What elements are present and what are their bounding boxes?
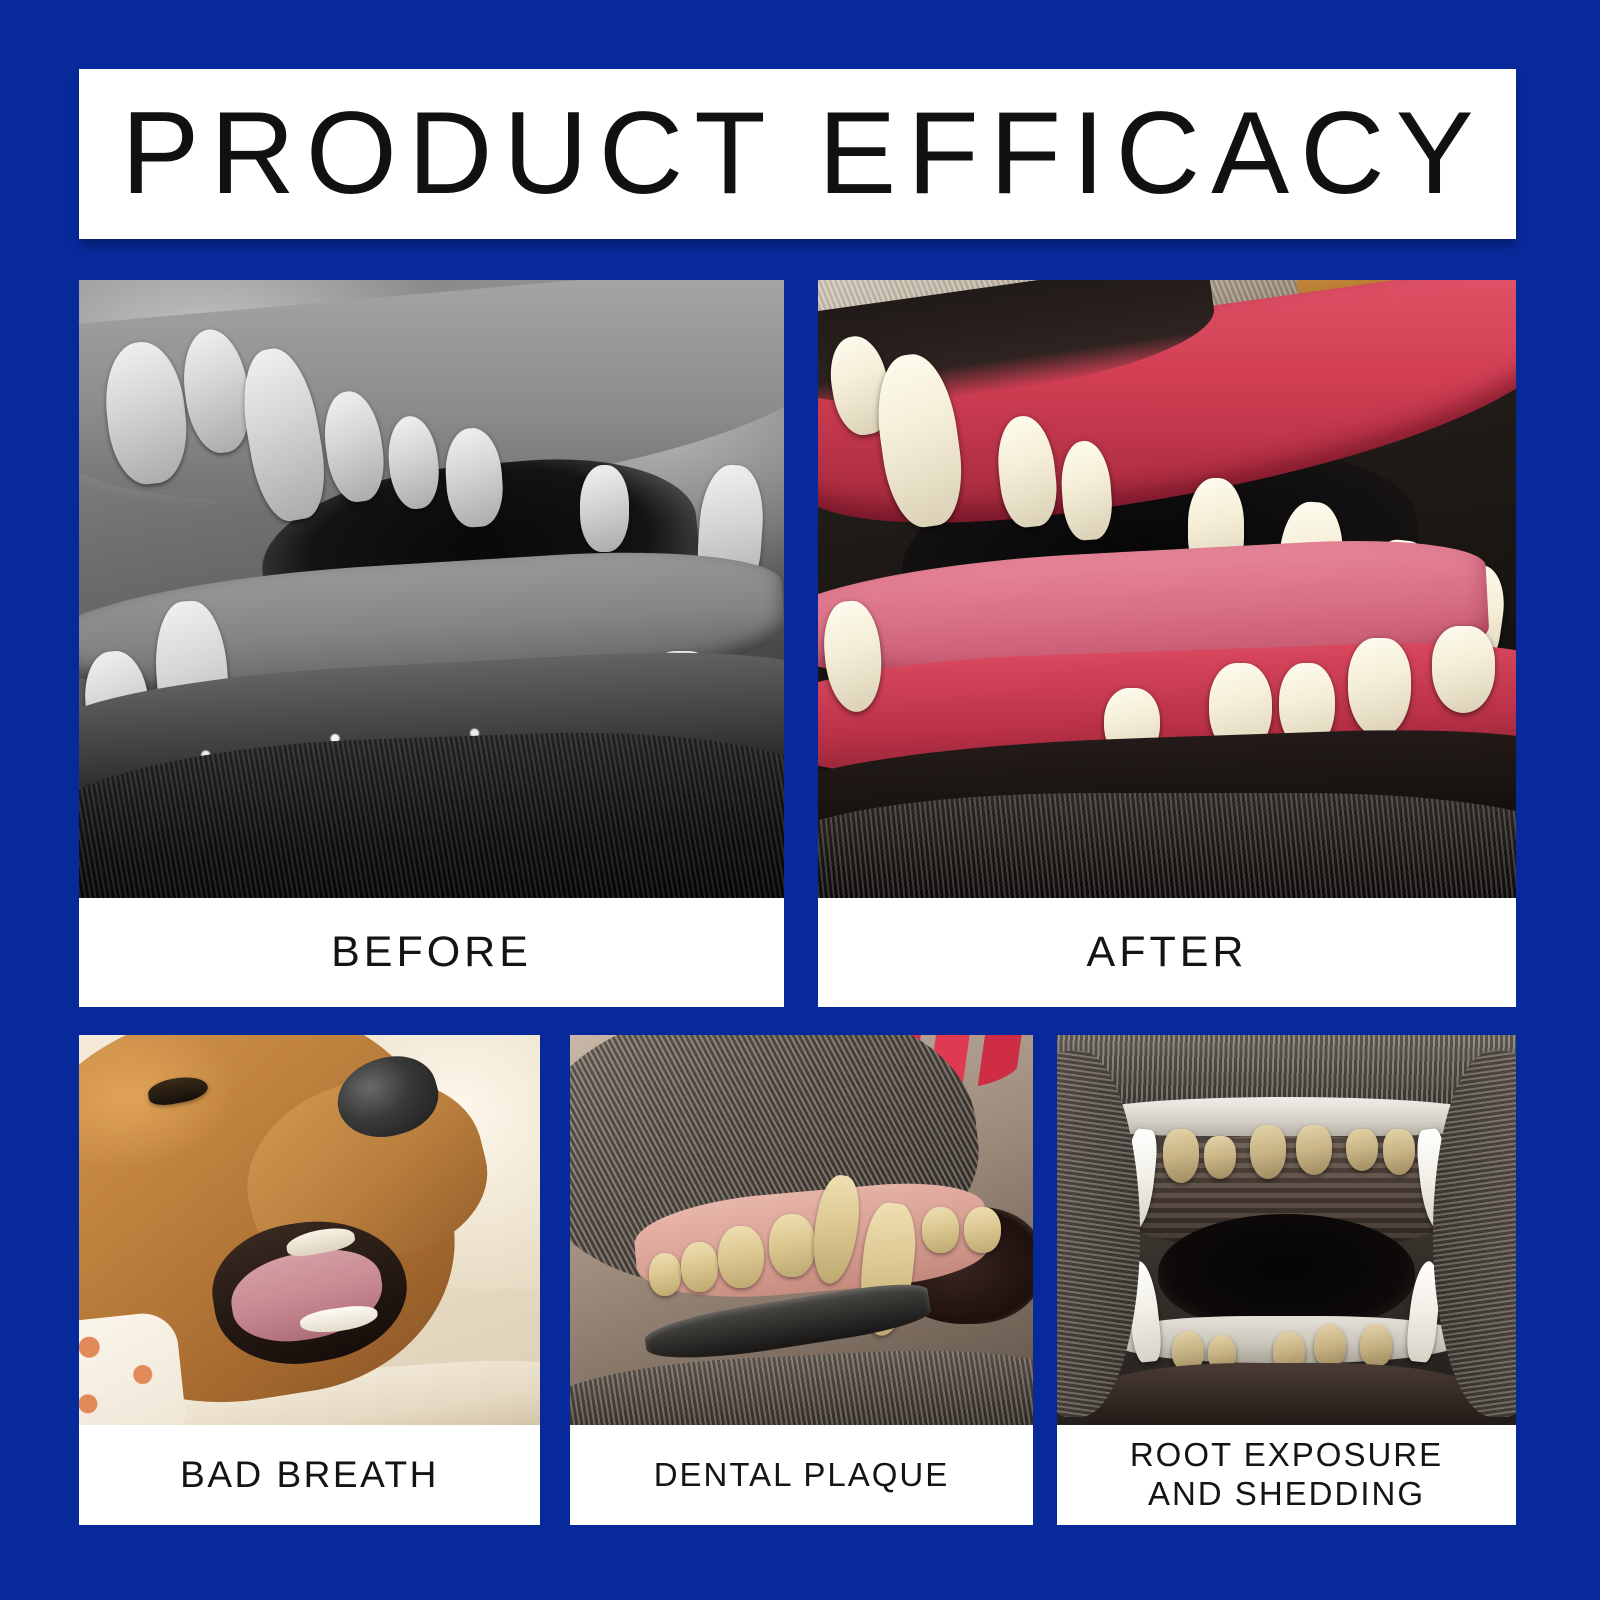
title-banner: PRODUCT EFFICACY bbox=[79, 69, 1516, 239]
product-efficacy-poster: PRODUCT EFFICACY bbox=[0, 0, 1600, 1600]
after-illustration bbox=[818, 280, 1516, 898]
bad-breath-photo bbox=[79, 1035, 540, 1425]
dental-plaque-caption: DENTAL PLAQUE bbox=[570, 1425, 1033, 1525]
root-exposure-caption-text: ROOT EXPOSURE AND SHEDDING bbox=[1130, 1436, 1443, 1514]
after-caption-text: AFTER bbox=[1087, 927, 1248, 978]
after-panel: AFTER bbox=[818, 280, 1516, 1007]
dental-plaque-caption-text: DENTAL PLAQUE bbox=[654, 1456, 950, 1495]
root-exposure-illustration bbox=[1057, 1035, 1516, 1425]
page-title: PRODUCT EFFICACY bbox=[110, 94, 1484, 211]
root-exposure-photo bbox=[1057, 1035, 1516, 1425]
dental-plaque-photo bbox=[570, 1035, 1033, 1425]
root-exposure-panel: ROOT EXPOSURE AND SHEDDING bbox=[1057, 1035, 1516, 1525]
before-photo bbox=[79, 280, 784, 898]
after-caption: AFTER bbox=[818, 898, 1516, 1007]
bad-breath-illustration bbox=[79, 1035, 540, 1425]
after-photo bbox=[818, 280, 1516, 898]
bad-breath-caption-text: BAD BREATH bbox=[180, 1453, 439, 1497]
dental-plaque-illustration bbox=[570, 1035, 1033, 1425]
before-panel: BEFORE bbox=[79, 280, 784, 1007]
before-caption: BEFORE bbox=[79, 898, 784, 1007]
root-exposure-caption: ROOT EXPOSURE AND SHEDDING bbox=[1057, 1425, 1516, 1525]
before-caption-text: BEFORE bbox=[331, 927, 532, 978]
dental-plaque-panel: DENTAL PLAQUE bbox=[570, 1035, 1033, 1525]
before-illustration bbox=[79, 280, 784, 898]
bad-breath-caption: BAD BREATH bbox=[79, 1425, 540, 1525]
bad-breath-panel: BAD BREATH bbox=[79, 1035, 540, 1525]
